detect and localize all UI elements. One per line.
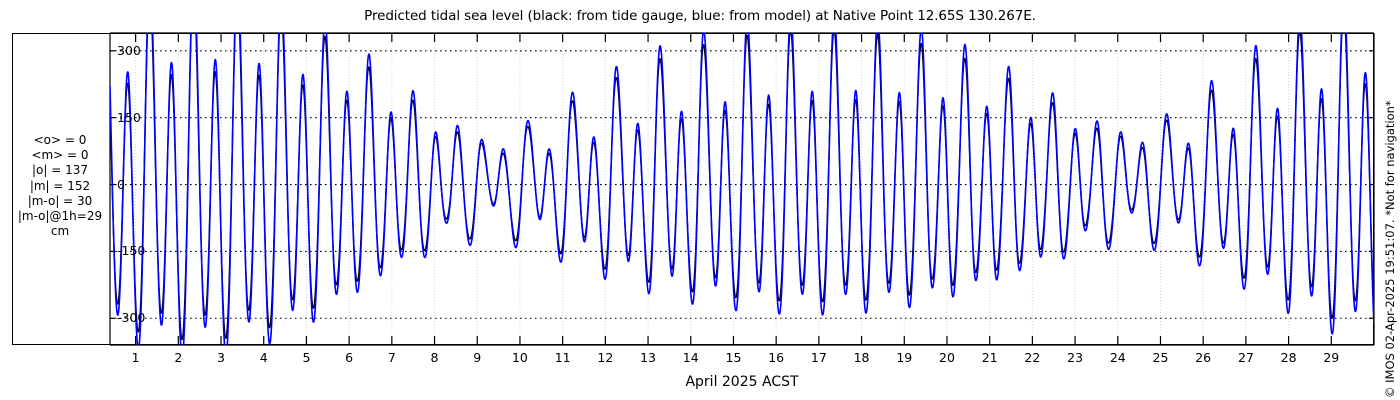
x-tick-label: 15	[713, 350, 753, 365]
x-tick-label: 27	[1226, 350, 1266, 365]
x-axis-title: April 2025 ACST	[110, 374, 1374, 390]
x-tick-label: 18	[842, 350, 882, 365]
x-tick-label: 24	[1098, 350, 1138, 365]
x-tick-label: 21	[970, 350, 1010, 365]
x-tick-label: 3	[201, 350, 241, 365]
x-tick-label: 13	[628, 350, 668, 365]
x-tick-label: 7	[372, 350, 412, 365]
x-tick-label: 17	[799, 350, 839, 365]
y-tick-label: 300	[117, 43, 141, 58]
x-tick-label: 9	[457, 350, 497, 365]
x-tick-label: 26	[1183, 350, 1223, 365]
x-tick-label: 19	[884, 350, 924, 365]
x-tick-label: 29	[1311, 350, 1351, 365]
copyright-notice: © IMOS 02-Apr-2025 19:51:07. *Not for na…	[1383, 0, 1399, 400]
x-tick-label: 8	[415, 350, 455, 365]
x-tick-label: 4	[244, 350, 284, 365]
series-layer	[110, 0, 1374, 357]
x-tick-label: 28	[1269, 350, 1309, 365]
x-tick-label: 22	[1012, 350, 1052, 365]
y-tick-label: 150	[117, 110, 141, 125]
x-tick-label: 12	[585, 350, 625, 365]
x-tick-label: 5	[286, 350, 326, 365]
y-tick-label: -150	[117, 243, 145, 258]
plot-canvas	[0, 0, 1400, 400]
copyright-text: © IMOS 02-Apr-2025 19:51:07. *Not for na…	[1383, 100, 1397, 398]
x-tick-label: 10	[500, 350, 540, 365]
x-tick-label: 11	[543, 350, 583, 365]
x-tick-label: 2	[158, 350, 198, 365]
x-tick-label: 20	[927, 350, 967, 365]
x-tick-label: 23	[1055, 350, 1095, 365]
x-tick-label: 16	[756, 350, 796, 365]
x-tick-label: 14	[671, 350, 711, 365]
x-tick-label: 6	[329, 350, 369, 365]
x-tick-label: 25	[1140, 350, 1180, 365]
x-tick-label: 1	[116, 350, 156, 365]
tidal-chart-figure: Predicted tidal sea level (black: from t…	[0, 0, 1400, 400]
series-line-model	[110, 0, 1374, 357]
y-tick-label: 0	[117, 177, 125, 192]
y-tick-label: -300	[117, 310, 145, 325]
